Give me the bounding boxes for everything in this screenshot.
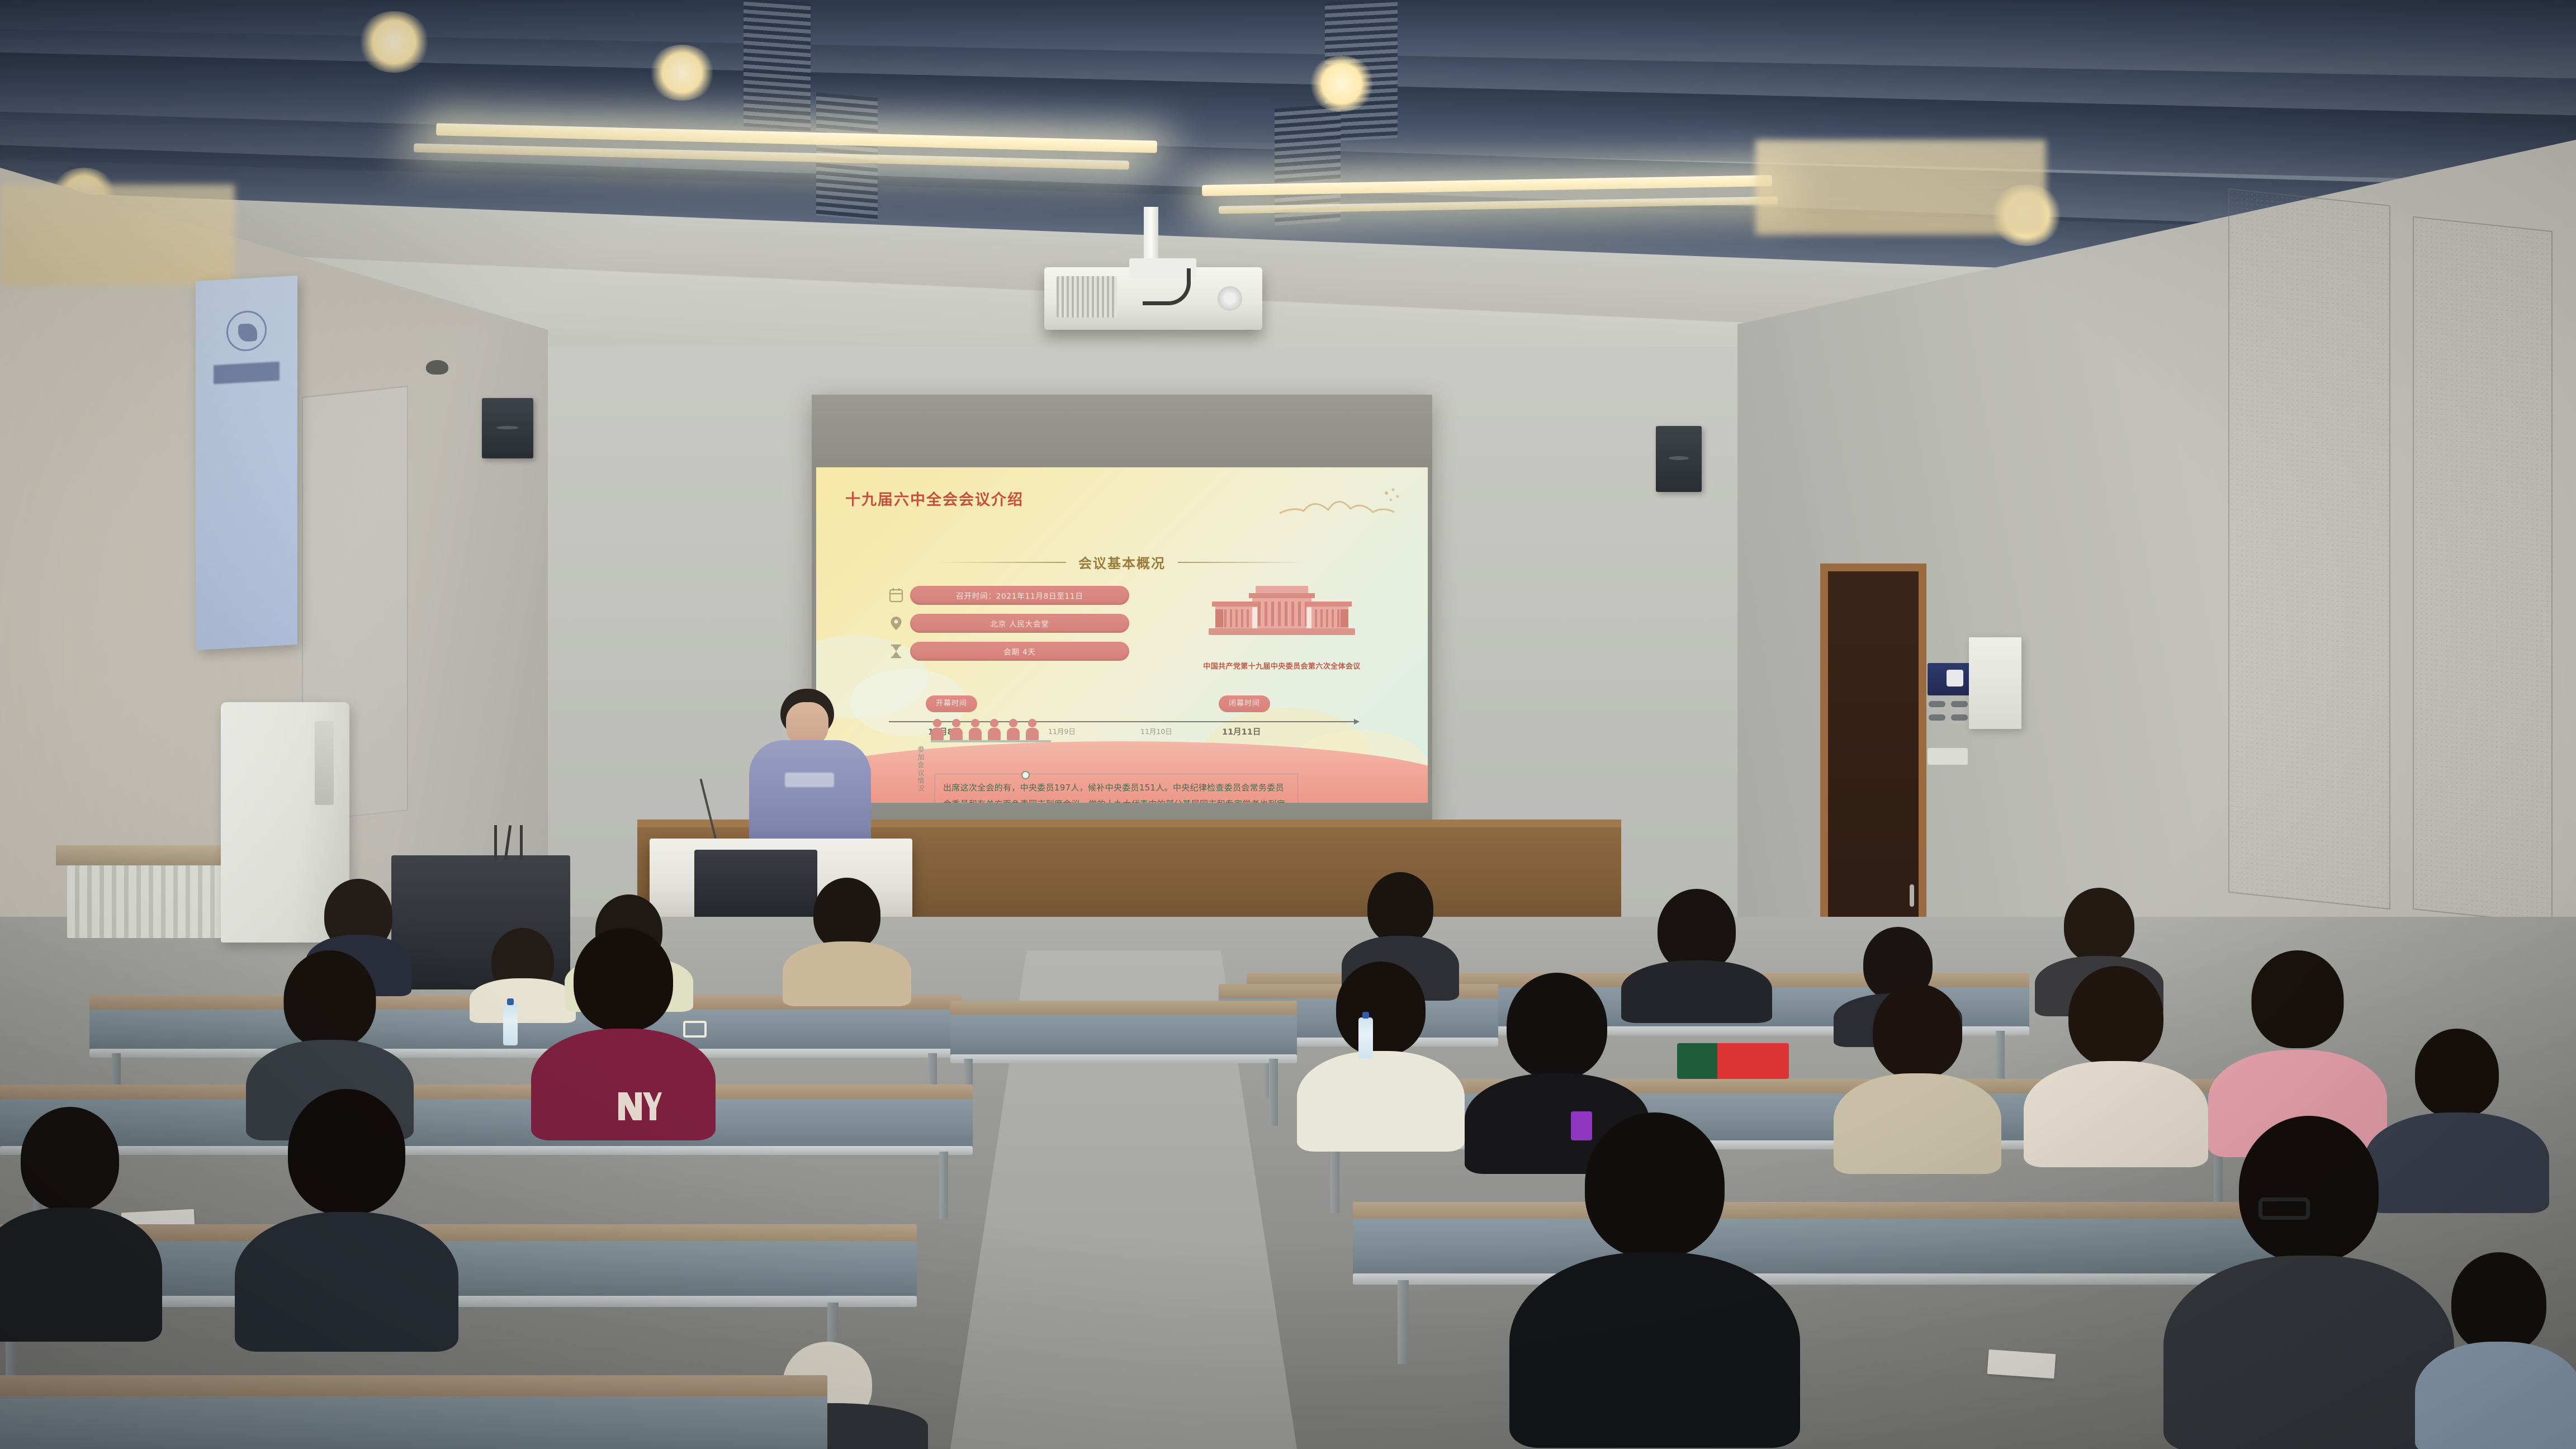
person-icon [988, 719, 1001, 740]
control-button[interactable] [1929, 714, 1945, 721]
person-head [1367, 872, 1433, 944]
timeline-start-pill: 开幕时间 [926, 695, 977, 712]
person-head [1507, 973, 1607, 1079]
person-head [574, 928, 673, 1031]
wall-radiator [67, 865, 240, 938]
person-icon [931, 719, 944, 740]
attendance-paragraph-box: 出席这次全会的有，中央委员197人，候补中央委员151人。中央纪律检查委员会常务… [935, 774, 1298, 803]
timeline-date-4: 11月11日 [1222, 726, 1261, 737]
control-button[interactable] [1951, 701, 1968, 707]
wall-cove-light [1755, 140, 2046, 235]
timeline-end-pill: 闭幕时间 [1219, 695, 1270, 712]
control-panel-screen [1928, 663, 1971, 695]
wall-speaker-left [482, 398, 533, 458]
ceiling-mounted-projector [1044, 267, 1262, 330]
control-button[interactable] [1951, 714, 1968, 721]
bench-leg [1330, 1146, 1339, 1213]
person-icon [950, 719, 963, 740]
person-head [2068, 966, 2163, 1067]
wall-banner [196, 276, 297, 650]
person-head [1336, 962, 1426, 1055]
presenter-shirt-graphic [785, 773, 834, 787]
cabinet-antenna-icon [492, 824, 531, 860]
seat-back [0, 1396, 827, 1449]
person-torso [2163, 1256, 2454, 1449]
control-button[interactable] [1929, 701, 1945, 707]
person-head [1658, 889, 1736, 972]
audience-person [1509, 1112, 1800, 1448]
ceiling-vent [744, 0, 811, 131]
person-head [2064, 888, 2134, 963]
person-torso [1834, 1073, 2001, 1174]
projector-vent-icon [1057, 276, 1117, 318]
light-switch-plate[interactable] [1928, 748, 1968, 765]
ceiling-downlight [358, 11, 430, 73]
section-rule-left [937, 562, 1066, 563]
slide-section-title: 会议基本概况 [1078, 552, 1166, 572]
info-pill-date: 召开时间：2021年11月8日至11日 [910, 586, 1129, 605]
person-torso [0, 1207, 162, 1342]
audience-person [235, 1089, 458, 1352]
person-head [2239, 1116, 2379, 1262]
slide-section-header: 会议基本概况 [816, 552, 1428, 572]
person-icon [1026, 719, 1039, 740]
bench-row[interactable] [950, 1001, 1297, 1135]
notebook[interactable] [1677, 1043, 1789, 1079]
person-torso [235, 1212, 458, 1352]
person-head [288, 1089, 405, 1215]
ceiling-sensor-icon [426, 360, 448, 375]
banner-text-block [214, 362, 280, 385]
water-bottle[interactable] [503, 1004, 518, 1045]
person-head [1585, 1112, 1725, 1258]
bench-row[interactable] [0, 1375, 827, 1449]
seat-back [950, 1015, 1297, 1059]
bench-leg [1269, 1059, 1278, 1126]
slide-title: 十九届六中全会会议介绍 [845, 487, 1024, 509]
presenter-body [749, 740, 871, 852]
person-head [284, 950, 376, 1048]
door-handle[interactable] [1910, 884, 1914, 907]
lecture-hall-scene: 十九届六中全会会议介绍 会议基本概况 [0, 0, 2576, 1449]
audience-person [1834, 984, 2001, 1174]
seat-rail [950, 1054, 1297, 1063]
wall-acoustic-panel [2413, 216, 2553, 924]
projection-screen: 十九届六中全会会议介绍 会议基本概况 [812, 395, 1432, 856]
attendance-vertical-label: 参加会议情况 [915, 746, 925, 793]
person-torso [783, 941, 911, 1006]
great-hall-icon [1190, 583, 1374, 650]
slide-info-list: 召开时间：2021年11月8日至11日 北京 人民大会堂 [889, 586, 1129, 670]
person-head [813, 878, 880, 950]
person-torso [1297, 1051, 1465, 1152]
ink-mountain-icon [1277, 484, 1405, 518]
wall-acoustic-panel [2228, 188, 2390, 910]
wall-mounted-box [1969, 637, 2021, 729]
water-bottle[interactable] [1358, 1017, 1373, 1059]
presenter-at-podium [744, 689, 878, 851]
timeline-date-2: 11月9日 [1048, 726, 1076, 736]
person-torso [2415, 1342, 2576, 1449]
audience-person [783, 878, 911, 1006]
gooseneck-microphone [692, 777, 742, 839]
great-hall-graphic-block: 中国共产党第十九届中央委员会第六次全体会议 [1190, 583, 1374, 671]
wall-speaker-right [1656, 426, 1702, 492]
person-icon [969, 719, 982, 740]
list-item: 北京 人民大会堂 [889, 614, 1129, 633]
person-torso [1509, 1252, 1800, 1448]
projector-lens-icon [1218, 286, 1242, 311]
ceiling-downlight [648, 45, 716, 101]
person-head [2252, 950, 2344, 1048]
banner-emblem-icon [226, 310, 267, 352]
info-pill-location: 北京 人民大会堂 [910, 614, 1129, 633]
bench-leg [1398, 1280, 1409, 1364]
presentation-slide: 十九届六中全会会议介绍 会议基本概况 [816, 467, 1428, 803]
person-head [1873, 984, 1962, 1079]
attendance-paragraph: 出席这次全会的有，中央委员197人，候补中央委员151人。中央纪律检查委员会常务… [943, 780, 1290, 803]
person-head [2451, 1252, 2546, 1353]
bench-leg [939, 1152, 948, 1219]
person-head [2415, 1029, 2499, 1118]
ceiling-downlight [1308, 56, 1375, 112]
projector-cable [1143, 268, 1191, 305]
ac-vent-icon [315, 721, 334, 805]
list-item: 召开时间：2021年11月8日至11日 [889, 586, 1129, 605]
audience-person [2415, 1252, 2576, 1449]
location-pin-icon [889, 615, 903, 631]
great-hall-caption: 中国共产党第十九届中央委员会第六次全体会议 [1190, 660, 1374, 671]
person-head [21, 1107, 119, 1211]
seat-rail [89, 1049, 962, 1058]
wall-cove-light [0, 184, 235, 285]
timeline-date-3: 11月10日 [1140, 726, 1172, 736]
eyeglasses-icon [2258, 1197, 2310, 1220]
attendees-base [931, 740, 1051, 742]
calendar-icon [889, 588, 903, 603]
screen-top-margin [812, 395, 1432, 467]
mlb-patch-icon [683, 1021, 707, 1038]
person-icon [1007, 719, 1020, 740]
hourglass-icon [889, 643, 903, 659]
info-pill-duration: 会期 4天 [910, 642, 1129, 661]
audience-person [0, 1107, 162, 1342]
audience-person [1297, 962, 1465, 1152]
ny-logo-icon [614, 1083, 662, 1126]
audience-person [2163, 1116, 2454, 1449]
list-item: 会期 4天 [889, 642, 1129, 661]
section-rule-right [1178, 562, 1306, 563]
